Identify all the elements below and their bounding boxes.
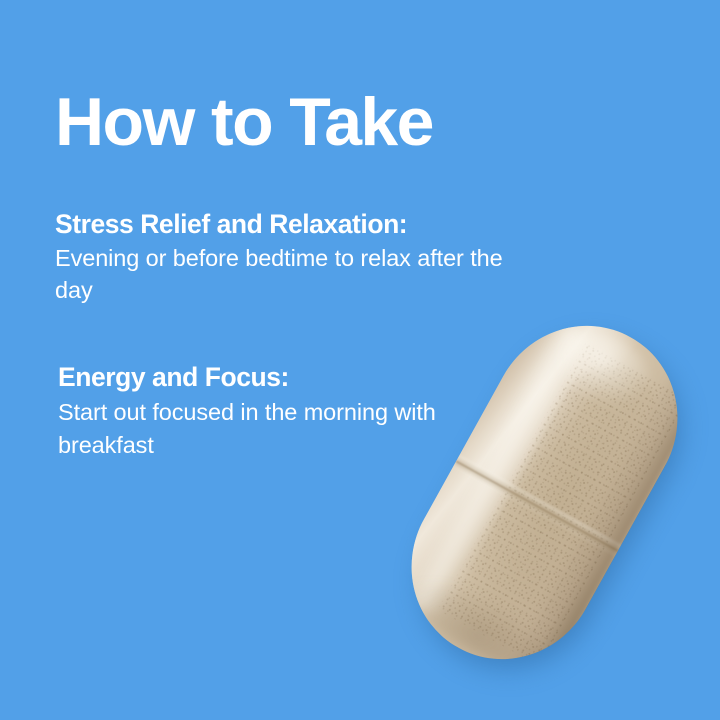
page-title: How to Take: [55, 88, 433, 156]
section-heading: Energy and Focus:: [58, 362, 558, 393]
instruction-section-energy-focus: Energy and Focus: Start out focused in t…: [58, 362, 558, 462]
section-heading: Stress Relief and Relaxation:: [55, 209, 555, 240]
instruction-section-stress-relief: Stress Relief and Relaxation: Evening or…: [55, 209, 555, 306]
section-body: Start out focused in the morning with br…: [58, 396, 528, 462]
section-body: Evening or before bedtime to relax after…: [55, 243, 525, 306]
content-column: How to Take Stress Relief and Relaxation…: [0, 0, 560, 720]
how-to-take-poster: How to Take Stress Relief and Relaxation…: [0, 0, 720, 720]
